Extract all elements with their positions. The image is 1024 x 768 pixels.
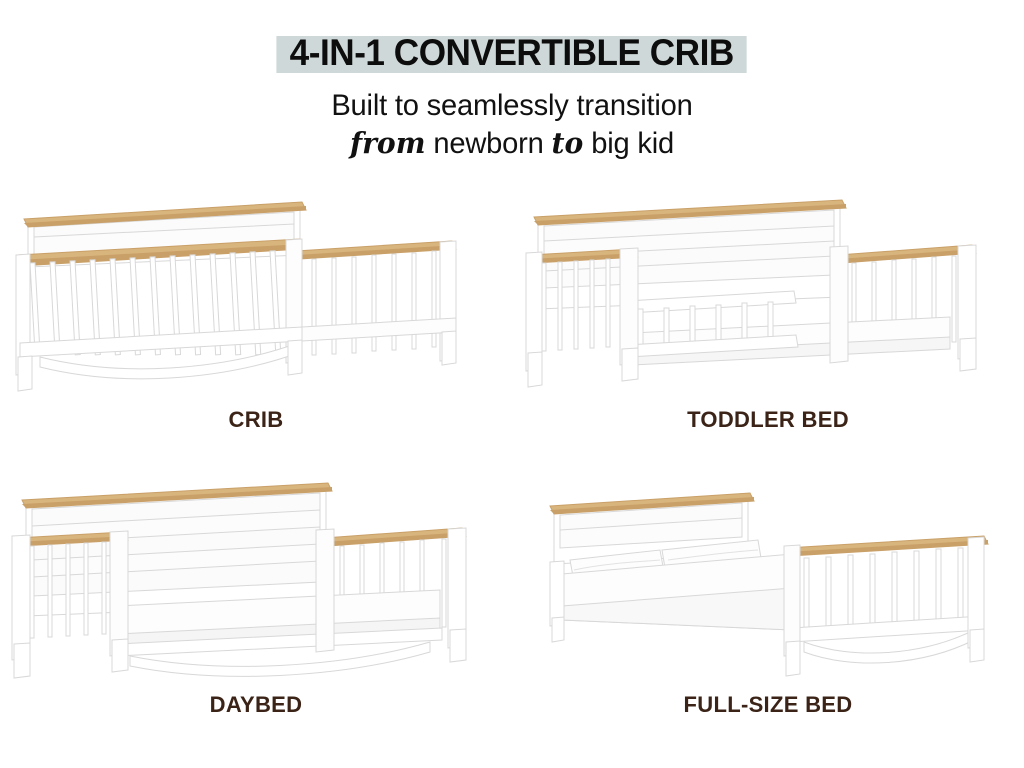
toddler-bed-illustration <box>512 193 1024 398</box>
crib-illustration <box>0 193 512 398</box>
subtitle-plain-newborn: newborn <box>433 127 543 160</box>
page-title-text: 4-IN-1 CONVERTIBLE CRIB <box>290 32 734 73</box>
config-cell-crib: CRIB <box>0 185 512 470</box>
full-size-bed-illustration <box>512 478 1024 683</box>
caption-daybed: DAYBED <box>0 692 512 718</box>
caption-toddler-bed: TODDLER BED <box>512 407 1024 433</box>
page-title-wrap: 4-IN-1 CONVERTIBLE CRIB <box>0 30 1024 77</box>
config-cell-full-size-bed: FULL-SIZE BED <box>512 470 1024 755</box>
subtitle-line-1: Built to seamlessly transition <box>15 89 1008 123</box>
caption-crib: CRIB <box>0 407 512 433</box>
full-size-bed-image <box>512 478 1024 683</box>
subtitle-script-from: from <box>350 126 425 160</box>
daybed-image <box>0 478 512 683</box>
daybed-illustration <box>0 478 512 683</box>
subtitle-line-2: from newborn to big kid <box>15 126 1008 161</box>
config-cell-toddler-bed: TODDLER BED <box>512 185 1024 470</box>
config-cell-daybed: DAYBED <box>0 470 512 755</box>
caption-full-size-bed: FULL-SIZE BED <box>512 692 1024 718</box>
toddler-bed-image <box>512 193 1024 398</box>
crib-image <box>0 193 512 398</box>
subtitle-plain-bigkid: big kid <box>591 127 674 160</box>
infographic-header: 4-IN-1 CONVERTIBLE CRIB Built to seamles… <box>0 0 1024 161</box>
subtitle-script-to: to <box>552 126 584 160</box>
configuration-grid: CRIB <box>0 185 1024 755</box>
page-title: 4-IN-1 CONVERTIBLE CRIB <box>277 30 748 77</box>
